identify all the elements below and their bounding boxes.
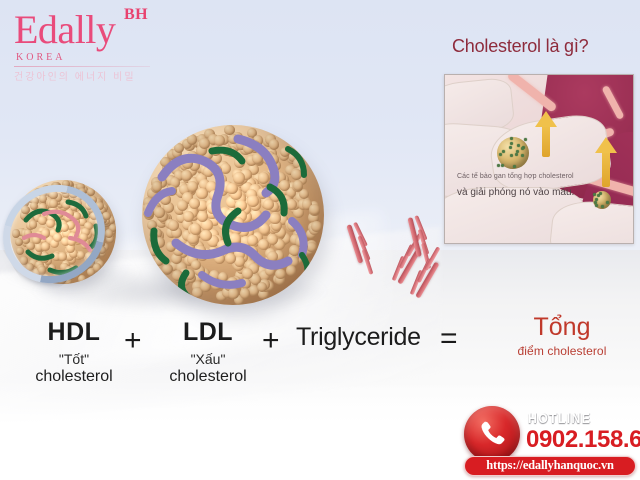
ldl-particle-graphic [142, 125, 324, 305]
brand-country: KOREA [16, 52, 65, 63]
inset-caption-line-1: Các tế bào gan tổng hợp cholesterol [457, 173, 627, 180]
cholesterol-speckle [606, 201, 609, 204]
formula-result-total: Tổng điểm cholesterol [492, 313, 632, 358]
hdl-quality: "Tốt" [14, 351, 134, 367]
ldl-lipid-beads [142, 125, 324, 305]
formula-term-triglyceride: Triglyceride [296, 323, 421, 352]
cholesterol-speckle [510, 137, 513, 140]
cholesterol-speckle [509, 146, 512, 149]
inset-caption-line-2: và giải phóng nó vào máu. [457, 187, 627, 198]
ldl-quality: "Xấu" [148, 351, 268, 367]
cholesterol-speckle [521, 147, 524, 150]
brand-tagline-korean: 건강아인의 에너지 비밀 [14, 68, 154, 83]
cholesterol-speckle [513, 165, 516, 168]
brand-name: Edally [14, 10, 115, 50]
formula-operator-plus-2: + [262, 324, 280, 358]
cholesterol-formula-row: HDL "Tốt" cholesterol + LDL "Xấu" choles… [0, 318, 640, 398]
total-sublabel: điểm cholesterol [492, 344, 632, 358]
triglyceride-molecules-graphic [350, 212, 455, 290]
hdl-label: HDL [14, 318, 134, 347]
phone-icon [464, 406, 520, 462]
hotline-number[interactable]: 0902.158.663 [526, 426, 640, 454]
formula-operator-plus-1: + [124, 324, 142, 358]
ldl-word: cholesterol [148, 368, 268, 386]
formula-equals-sign: = [440, 322, 458, 356]
cholesterol-speckle [502, 150, 505, 153]
brand-logo[interactable]: Edally BH KOREA 건강아인의 에너지 비밀 [8, 4, 178, 80]
cholesterol-speckle [510, 142, 513, 145]
inset-panel-liver-diagram: Các tế bào gan tổng hợp cholesterol và g… [444, 74, 634, 244]
formula-term-ldl: LDL "Xấu" cholesterol [148, 318, 268, 386]
hdl-word: cholesterol [14, 368, 134, 386]
cholesterol-speckle [516, 150, 519, 153]
cholesterol-speckle [601, 205, 604, 208]
apolipoprotein-strands [142, 125, 324, 305]
brand-divider [14, 66, 150, 67]
cholesterol-speckle [517, 144, 520, 147]
hotline-block[interactable]: HOTLINE 0902.158.663 https://edallyhanqu… [462, 404, 640, 480]
inset-panel-title: Cholesterol là gì? [452, 36, 640, 57]
cholesterol-particle-large [497, 137, 529, 169]
poster-canvas: Edally BH KOREA 건강아인의 에너지 비밀 Cholesterol… [0, 0, 640, 480]
cholesterol-speckle [595, 204, 598, 207]
cholesterol-speckle [510, 154, 513, 157]
brand-superscript: BH [124, 6, 148, 24]
hotline-label: HOTLINE [528, 410, 591, 426]
ldl-label: LDL [148, 318, 268, 347]
formula-term-hdl: HDL "Tốt" cholesterol [14, 318, 134, 386]
cholesterol-speckle [521, 154, 524, 157]
website-url-pill[interactable]: https://edallyhanquoc.vn [464, 456, 636, 476]
cholesterol-speckle [515, 153, 518, 156]
total-label: Tổng [492, 313, 632, 342]
cholesterol-speckle [499, 153, 502, 156]
